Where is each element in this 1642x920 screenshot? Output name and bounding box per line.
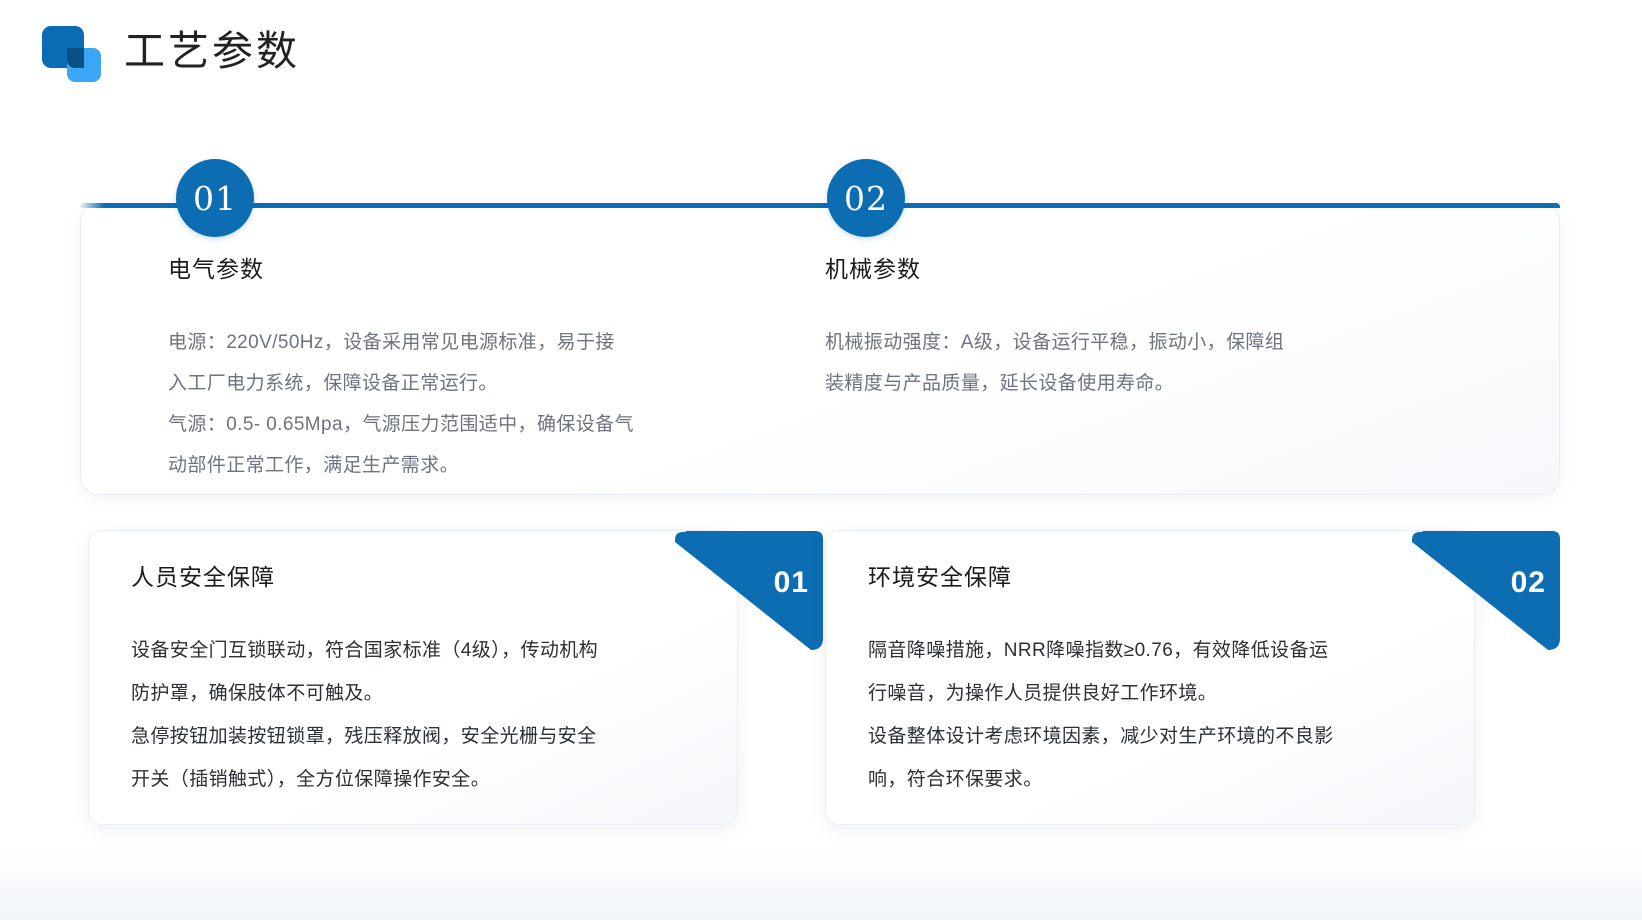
timeline-item-heading: 电气参数 xyxy=(168,250,768,284)
card-personnel-safety: 人员安全保障 01 设备安全门互锁联动，符合国家标准（4级），传动机构 防护罩，… xyxy=(88,530,738,825)
timeline-item-mechanical: 机械参数 机械振动强度：A级，设备运行平稳，振动小，保障组 装精度与产品质量，延… xyxy=(825,250,1425,404)
timeline-rail xyxy=(80,203,1560,208)
card-heading: 人员安全保障 xyxy=(131,558,275,592)
timeline-rail-fade xyxy=(80,203,104,208)
card-ribbon-number: 01 xyxy=(774,566,809,600)
card-body: 设备安全门互锁联动，符合国家标准（4级），传动机构 防护罩，确保肢体不可触及。 … xyxy=(131,629,711,801)
overlapping-squares-logo-icon xyxy=(42,22,112,80)
timeline-item-body: 电源：220V/50Hz，设备采用常见电源标准，易于接 入工厂电力系统，保障设备… xyxy=(168,322,768,486)
body-line: 装精度与产品质量，延长设备使用寿命。 xyxy=(825,363,1425,404)
timeline-item-electrical: 电气参数 电源：220V/50Hz，设备采用常见电源标准，易于接 入工厂电力系统… xyxy=(168,250,768,486)
body-line: 隔音降噪措施，NRR降噪指数≥0.76，有效降低设备运 xyxy=(868,629,1448,672)
timeline-item-body: 机械振动强度：A级，设备运行平稳，振动小，保障组 装精度与产品质量，延长设备使用… xyxy=(825,322,1425,404)
body-line: 开关（插销触式），全方位保障操作安全。 xyxy=(131,758,711,801)
page-header: 工艺参数 xyxy=(42,22,300,80)
body-line: 防护罩，确保肢体不可触及。 xyxy=(131,672,711,715)
timeline-badge-01[interactable]: 01 xyxy=(176,159,254,237)
page-title: 工艺参数 xyxy=(124,31,300,72)
body-line: 设备整体设计考虑环境因素，减少对生产环境的不良影 xyxy=(868,715,1448,758)
body-line: 设备安全门互锁联动，符合国家标准（4级），传动机构 xyxy=(131,629,711,672)
card-heading: 环境安全保障 xyxy=(868,558,1012,592)
page-bottom-wash xyxy=(0,850,1642,920)
body-line: 动部件正常工作，满足生产需求。 xyxy=(168,445,768,486)
body-line: 气源：0.5- 0.65Mpa，气源压力范围适中，确保设备气 xyxy=(168,404,768,445)
body-line: 响，符合环保要求。 xyxy=(868,758,1448,801)
card-ribbon-number: 02 xyxy=(1511,566,1546,600)
body-line: 电源：220V/50Hz，设备采用常见电源标准，易于接 xyxy=(168,322,768,363)
timeline-badge-02[interactable]: 02 xyxy=(827,159,905,237)
parameters-timeline-panel: 01 02 电气参数 电源：220V/50Hz，设备采用常见电源标准，易于接 入… xyxy=(80,203,1560,495)
card-body: 隔音降噪措施，NRR降噪指数≥0.76，有效降低设备运 行噪音，为操作人员提供良… xyxy=(868,629,1448,801)
body-line: 入工厂电力系统，保障设备正常运行。 xyxy=(168,363,768,404)
logo-square-overlap xyxy=(67,48,84,68)
body-line: 急停按钮加装按钮锁罩，残压释放阀，安全光栅与安全 xyxy=(131,715,711,758)
body-line: 行噪音，为操作人员提供良好工作环境。 xyxy=(868,672,1448,715)
card-environmental-safety: 环境安全保障 02 隔音降噪措施，NRR降噪指数≥0.76，有效降低设备运 行噪… xyxy=(825,530,1475,825)
body-line: 机械振动强度：A级，设备运行平稳，振动小，保障组 xyxy=(825,322,1425,363)
timeline-item-heading: 机械参数 xyxy=(825,250,1425,284)
